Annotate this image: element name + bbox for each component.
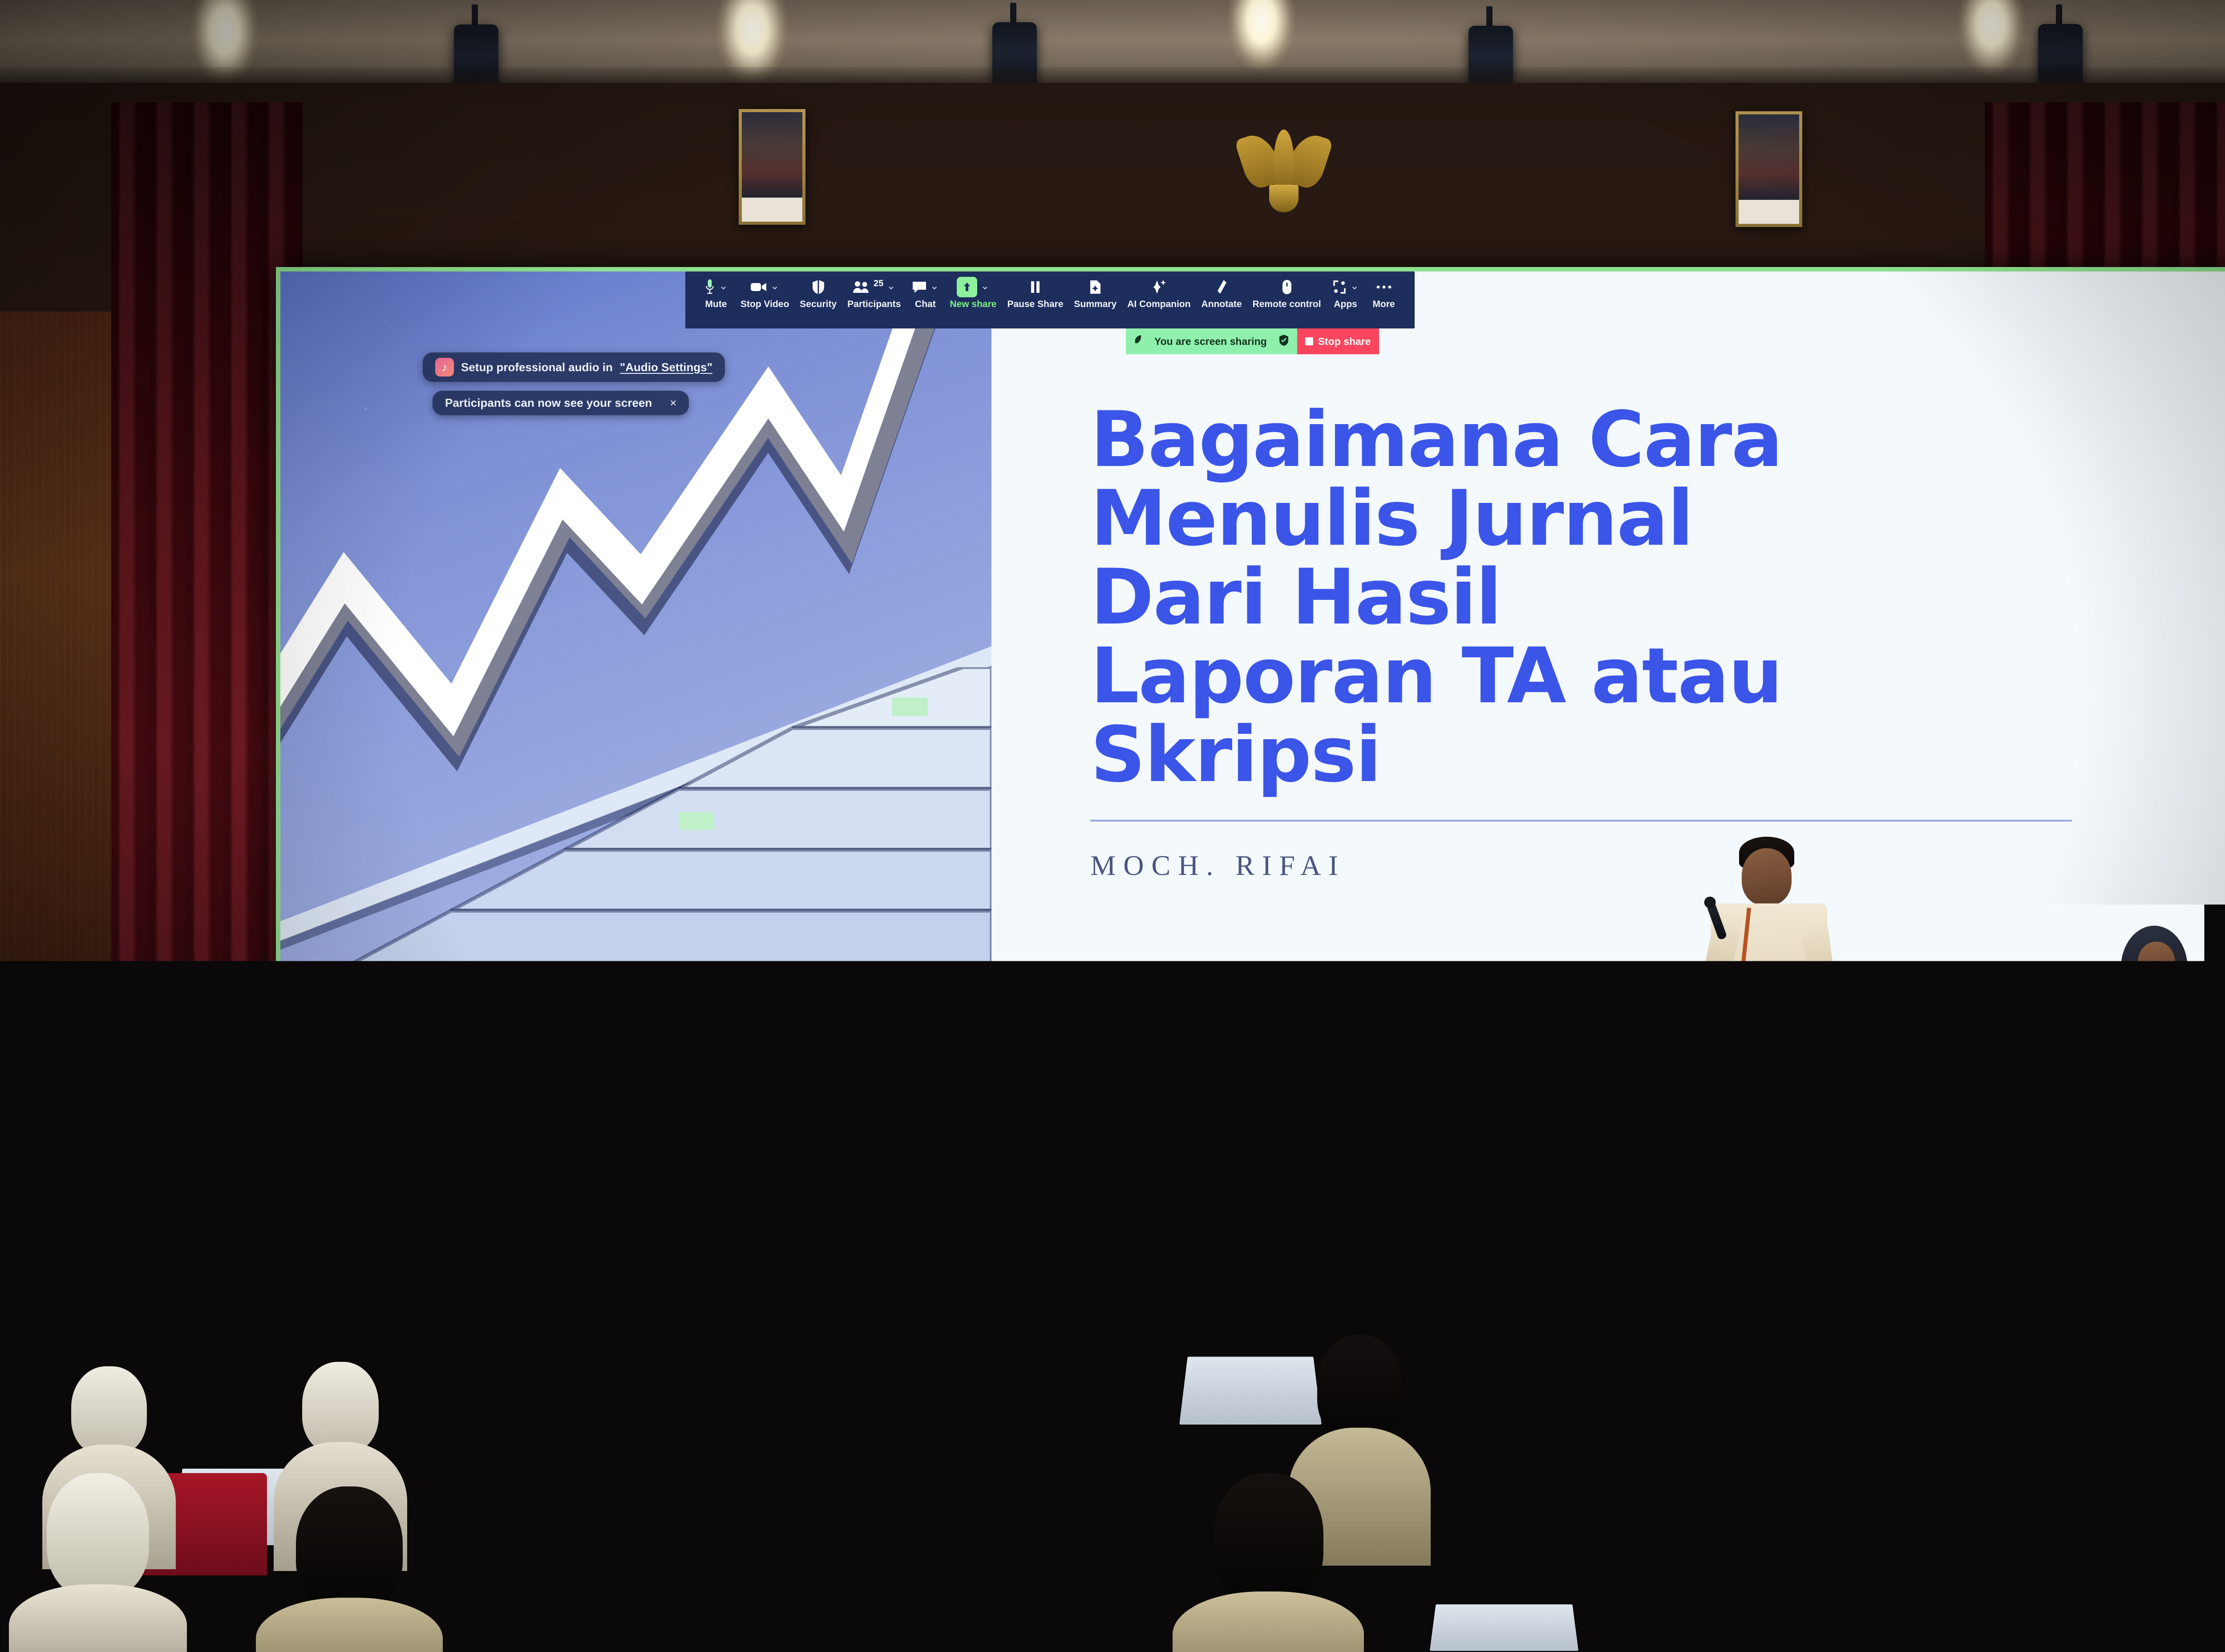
- chevron-down-icon[interactable]: ⌄: [980, 281, 989, 292]
- water-bottle: [975, 1289, 988, 1347]
- water-bottle: [961, 1289, 975, 1347]
- table-leg: [2124, 1089, 2135, 1223]
- attendee-shoulders: [1471, 1300, 1573, 1398]
- mouse-icon: [1282, 276, 1292, 298]
- toolbar-label: Summary: [1074, 299, 1117, 310]
- shield-check-icon: [1278, 334, 1289, 348]
- attendee-head: [1213, 1473, 1323, 1606]
- moderator-face: [2138, 942, 2175, 984]
- water-bottle: [1571, 1287, 1584, 1346]
- music-note-icon: ♪: [435, 358, 454, 377]
- attendee-head: [599, 1464, 710, 1598]
- attendee-head: [2192, 1469, 2225, 1600]
- garuda-emblem-icon: [1242, 122, 1326, 216]
- stairs-graphic: [280, 667, 991, 1032]
- portrait-nameplate: [1739, 200, 1799, 224]
- attendee-shoulders: [558, 1583, 750, 1652]
- toolbar-label: More: [1373, 299, 1395, 310]
- attendee: [578, 1464, 730, 1652]
- microphone-icon: [704, 276, 716, 298]
- attendee-shoulders: [1030, 1299, 1137, 1399]
- toolbar-button-new-share[interactable]: ⌄ New share: [944, 276, 1002, 310]
- garuda-tail: [1269, 185, 1299, 212]
- portrait-photo: [742, 112, 802, 198]
- upload-arrow-icon: [957, 277, 977, 297]
- attendee-head: [932, 1482, 1039, 1611]
- water-bottle: [1691, 1291, 1704, 1348]
- attendee-head-hijab-dark: [591, 1348, 672, 1451]
- slide-photo-stairs: [280, 271, 991, 1032]
- toolbar-label: Remote control: [1253, 299, 1321, 310]
- chat-bubble-icon: [912, 276, 927, 298]
- screenshot-root: Bagaimana Cara Menulis Jurnal Dari Hasil…: [0, 0, 2225, 1652]
- attendee: [912, 1482, 1059, 1652]
- toolbar-label: Participants: [847, 299, 901, 310]
- attendee-shoulders: [1519, 1583, 1712, 1652]
- toolbar-label: AI Companion: [1127, 299, 1190, 310]
- attendee: [445, 1237, 534, 1389]
- chevron-down-icon[interactable]: ⌄: [930, 281, 939, 292]
- vice-president-portrait: [1735, 111, 1802, 227]
- sharing-status-text: You are screen sharing: [1154, 336, 1267, 348]
- toolbar-button-more[interactable]: More: [1365, 276, 1403, 310]
- toolbar-label: Chat: [915, 299, 936, 310]
- attendee-head-hijab: [693, 1259, 749, 1325]
- attendee-head-hijab: [47, 1473, 149, 1598]
- presenter-face: [1742, 848, 1792, 905]
- portrait-nameplate: [742, 198, 802, 222]
- portrait-photo: [1739, 114, 1799, 200]
- attendee: [1037, 1233, 1130, 1389]
- toolbar-label: Stop Video: [740, 299, 789, 310]
- close-icon[interactable]: ×: [670, 396, 676, 410]
- attendee-shoulders: [1690, 1436, 1826, 1569]
- stop-share-label: Stop share: [1318, 336, 1371, 348]
- id-card-badge: [1737, 973, 1752, 993]
- attendee: [1477, 1242, 1566, 1393]
- sharing-leaf-icon: [1134, 334, 1143, 348]
- attendee-shoulders: [9, 1584, 187, 1652]
- chevron-down-icon[interactable]: ⌄: [886, 281, 895, 292]
- video-camera-icon: [750, 276, 767, 298]
- pencil-icon: [1216, 276, 1227, 298]
- attendee-head-hijab-dark: [1317, 1335, 1402, 1442]
- red-armchair-left: [1833, 1028, 1967, 1157]
- projection-screen: Bagaimana Cara Menulis Jurnal Dari Hasil…: [276, 267, 2225, 1037]
- chevron-down-icon[interactable]: ⌄: [719, 281, 728, 292]
- attendee-head: [460, 1237, 519, 1306]
- toolbar-label: Annotate: [1201, 299, 1242, 310]
- attendee: [1860, 1482, 2007, 1652]
- attendee-head: [1493, 1242, 1551, 1309]
- armchair-leg: [1951, 1154, 1957, 1172]
- pause-icon: [1029, 276, 1041, 298]
- toolbar-button-mute[interactable]: ⌄ Mute: [697, 276, 735, 310]
- toolbar-button-remote-control[interactable]: Remote control: [1247, 276, 1327, 310]
- rank-stripe: [2175, 1013, 2193, 1020]
- presenter-trousers: [1723, 1054, 1812, 1187]
- slide-title: Bagaimana Cara Menulis Jurnal Dari Hasil…: [1090, 400, 2157, 794]
- stop-square-icon: [1305, 337, 1313, 345]
- zoom-meeting-toolbar[interactable]: ⌄ Mute ⌄ Stop Video: [685, 271, 1415, 328]
- stage-curtain-left: [111, 102, 303, 1081]
- toolbar-label: Apps: [1334, 299, 1357, 310]
- attendee-head-hijab: [302, 1362, 379, 1454]
- summary-doc-icon: [1089, 276, 1101, 298]
- attendee-shoulders: [891, 1598, 1080, 1652]
- audio-settings-link[interactable]: "Audio Settings": [620, 360, 712, 374]
- attendee-head: [2000, 1246, 2058, 1313]
- attendee: [1193, 1473, 1344, 1652]
- toolbar-button-stop-video[interactable]: ⌄ Stop Video: [735, 276, 794, 310]
- sparkle-icon: [1151, 276, 1167, 298]
- chevron-down-icon[interactable]: ⌄: [770, 281, 779, 292]
- audio-mixer-rack: [429, 1064, 567, 1157]
- attendee-shoulders: [1173, 1591, 1364, 1652]
- audience-area: [0, 1233, 2225, 1652]
- mixer-jack-row: [436, 1117, 537, 1143]
- ellipsis-icon: [1376, 276, 1392, 298]
- slide-divider: [1090, 820, 2072, 822]
- attendee: [276, 1486, 423, 1652]
- sharing-status: You are screen sharing: [1126, 328, 1297, 354]
- toolbar-label: New share: [950, 299, 996, 310]
- people-icon: [853, 276, 870, 298]
- toolbar-button-apps[interactable]: ⌄ Apps: [1327, 276, 1365, 310]
- share-toast-text: Participants can now see your screen: [445, 396, 652, 410]
- attendee-head: [185, 1246, 242, 1313]
- toolbar-button-ai-companion[interactable]: AI Companion: [1122, 276, 1196, 310]
- toolbar-button-pause-share[interactable]: Pause Share: [1002, 276, 1068, 310]
- attendee-head: [1560, 1464, 1671, 1598]
- attendee-shoulders: [2151, 1586, 2225, 1652]
- water-bottle: [352, 1286, 365, 1346]
- armchair-leg: [2032, 1154, 2039, 1172]
- audio-settings-toast[interactable]: ♪ Setup professional audio in "Audio Set…: [423, 352, 725, 382]
- toolbar-button-annotate[interactable]: Annotate: [1196, 276, 1247, 310]
- attendee: [2172, 1469, 2225, 1652]
- standing-presenter: [1704, 837, 1847, 1228]
- armchair-seat: [1841, 1093, 1959, 1137]
- toolbar-label: Security: [800, 299, 837, 310]
- attendee-head: [296, 1486, 403, 1611]
- participant-count-badge: 25: [874, 279, 883, 289]
- presenter-shoe: [1769, 1201, 1819, 1219]
- president-portrait: [739, 109, 805, 225]
- attendee-shoulders: [165, 1304, 263, 1397]
- stop-share-button[interactable]: Stop share: [1297, 328, 1379, 354]
- attendee: [676, 1259, 765, 1402]
- attendee-shoulders: [438, 1298, 541, 1396]
- water-bottle: [1807, 1285, 1820, 1347]
- attendee: [1540, 1464, 1691, 1652]
- shield-icon: [812, 276, 825, 298]
- attendee-head-hijab: [1718, 1348, 1798, 1449]
- toolbar-label: Pause Share: [1007, 299, 1063, 310]
- attendee-head-hijab: [854, 1344, 934, 1445]
- table-shelf: [2128, 1168, 2225, 1180]
- attendee-head-hijab-dark: [2003, 1335, 2087, 1441]
- participants-see-screen-toast[interactable]: Participants can now see your screen ×: [433, 391, 689, 415]
- toolbar-button-chat[interactable]: ⌄ Chat: [906, 276, 944, 310]
- attendee: [1700, 1348, 1816, 1558]
- shared-screen-content: Bagaimana Cara Menulis Jurnal Dari Hasil…: [280, 271, 2225, 1032]
- attendee: [169, 1246, 258, 1393]
- slide-text-block: Bagaimana Cara Menulis Jurnal Dari Hasil…: [991, 271, 2225, 1032]
- toolbar-button-security[interactable]: Security: [794, 276, 842, 310]
- attendee: [27, 1473, 169, 1652]
- toolbar-label: Mute: [705, 299, 727, 310]
- attendee-head: [1052, 1233, 1115, 1308]
- attendee-shoulders: [256, 1598, 443, 1652]
- mixer-knob-row: [436, 1093, 537, 1109]
- attendee-head-hijab: [71, 1366, 147, 1455]
- rack-side-panel: [538, 1068, 563, 1153]
- apps-icon: [1332, 276, 1347, 298]
- toolbar-button-summary[interactable]: Summary: [1069, 276, 1122, 310]
- presenter-shoe: [1719, 1201, 1768, 1219]
- toolbar-button-participants[interactable]: 25 ⌄ Participants: [842, 276, 906, 310]
- presentation-slide: Bagaimana Cara Menulis Jurnal Dari Hasil…: [280, 271, 2225, 1032]
- audio-toast-text: Setup professional audio in: [461, 360, 613, 374]
- attendee-head-hijab: [1880, 1482, 1987, 1612]
- water-bottle: [418, 1292, 432, 1348]
- screen-sharing-strip[interactable]: You are screen sharing Stop share: [1126, 328, 1379, 354]
- slide-author: MOCH. RIFAI: [1090, 849, 2157, 882]
- attendee-shoulders: [1839, 1599, 2028, 1652]
- chevron-down-icon[interactable]: ⌄: [1350, 281, 1359, 292]
